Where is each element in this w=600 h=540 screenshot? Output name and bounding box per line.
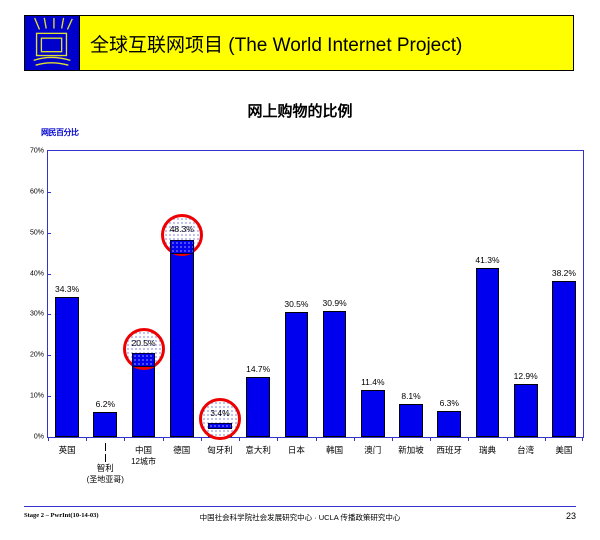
bar xyxy=(437,411,461,437)
x-tick-label: 韩国 xyxy=(326,445,343,456)
y-tick-mark xyxy=(47,314,51,315)
x-tick-label-main: 匈牙利 xyxy=(207,445,233,455)
x-tick-label-main: 德国 xyxy=(173,445,190,455)
x-tick-label: 瑞典 xyxy=(479,445,496,456)
bar-value-label: 6.2% xyxy=(96,399,115,409)
label-leader-line xyxy=(105,443,106,451)
bar-value-label: 48.3% xyxy=(170,224,194,234)
bar-value-label: 3.4% xyxy=(210,408,229,418)
x-tick-label-main: 意大利 xyxy=(245,445,271,455)
bar-value-label: 34.3% xyxy=(55,284,79,294)
x-tick-label: 意大利 xyxy=(245,445,271,456)
y-tick-mark xyxy=(47,274,51,275)
y-tick-mark xyxy=(47,396,51,397)
x-tick-label-main: 韩国 xyxy=(326,445,343,455)
x-tick-label: 台湾 xyxy=(517,445,534,456)
bar xyxy=(246,377,270,437)
x-tick-label-main: 美国 xyxy=(555,445,572,455)
x-tick-label-main: 西班牙 xyxy=(436,445,462,455)
x-tick-label: 美国 xyxy=(555,445,572,456)
page-title: 全球互联网项目 (The World Internet Project) xyxy=(90,30,462,57)
x-tick-label: 中国12城市 xyxy=(131,445,156,467)
bar-value-label: 38.2% xyxy=(552,268,576,278)
y-tick-label: 0% xyxy=(34,434,44,441)
bar-value-label: 8.1% xyxy=(401,391,420,401)
y-tick-label: 40% xyxy=(30,270,44,277)
x-tick-label-main: 台湾 xyxy=(517,445,534,455)
x-tick-label-main: 中国 xyxy=(135,445,152,455)
bar-highlight-top xyxy=(132,353,156,367)
y-tick-mark xyxy=(47,192,51,193)
highlight-circle xyxy=(199,398,241,440)
label-leader-line xyxy=(105,454,106,462)
y-tick-label: 50% xyxy=(30,229,44,236)
x-tick-label-sub: 12城市 xyxy=(131,456,156,467)
bar-value-label: 20.5% xyxy=(131,338,155,348)
y-tick-mark xyxy=(47,233,51,234)
x-axis-tick-labels: 英国智利(圣地亚哥)中国12城市德国匈牙利意大利日本韩国澳门新加坡西班牙瑞典台湾… xyxy=(48,441,583,501)
bar-value-label: 14.7% xyxy=(246,364,270,374)
x-tick-label-main: 智利 xyxy=(97,463,114,473)
x-tick-label: 日本 xyxy=(288,445,305,456)
bar-value-label: 41.3% xyxy=(475,255,499,265)
x-tick-label-main: 澳门 xyxy=(364,445,381,455)
x-tick-label: 匈牙利 xyxy=(207,445,233,456)
bar xyxy=(476,268,500,437)
y-tick-label: 20% xyxy=(30,352,44,359)
y-tick-label: 30% xyxy=(30,311,44,318)
x-tick-label-main: 英国 xyxy=(59,445,76,455)
monitor-logo-icon xyxy=(24,15,80,71)
x-tick-label: 西班牙 xyxy=(436,445,462,456)
bar xyxy=(361,390,385,437)
y-tick-label: 60% xyxy=(30,188,44,195)
bar xyxy=(552,281,576,437)
footer-center-text: 中国社会科学院社会发展研究中心 · UCLA 传播政策研究中心 xyxy=(0,512,600,523)
x-tick-label: 澳门 xyxy=(364,445,381,456)
bar xyxy=(55,297,79,437)
bar-highlight-top xyxy=(208,423,232,429)
bar-value-label: 30.5% xyxy=(284,299,308,309)
y-axis-label: 网民百分比 xyxy=(41,127,79,138)
y-axis-tick-labels: 0%10%20%30%40%50%60%70% xyxy=(18,150,44,438)
bar-value-label: 12.9% xyxy=(514,371,538,381)
bar-value-label: 30.9% xyxy=(323,298,347,308)
bar-value-label: 6.3% xyxy=(440,398,459,408)
x-tick-label: 智利(圣地亚哥) xyxy=(87,463,124,485)
x-tick-label-main: 瑞典 xyxy=(479,445,496,455)
bar xyxy=(93,412,117,437)
header-title-box: 全球互联网项目 (The World Internet Project) xyxy=(80,15,574,71)
bar xyxy=(170,240,194,437)
bar xyxy=(399,404,423,437)
chart-title: 网上购物的比例 xyxy=(0,100,600,121)
x-tick-label-sub: (圣地亚哥) xyxy=(87,474,124,485)
y-tick-label: 70% xyxy=(30,148,44,155)
bars-layer: 34.3%6.2%20.5%48.3%3.4%14.7%30.5%30.9%11… xyxy=(48,151,583,437)
x-tick-label-main: 新加坡 xyxy=(398,445,424,455)
footer-divider xyxy=(24,506,576,507)
bar xyxy=(285,312,309,437)
y-tick-label: 10% xyxy=(30,393,44,400)
x-tick-label: 英国 xyxy=(59,445,76,456)
x-tick-label: 德国 xyxy=(173,445,190,456)
y-tick-mark xyxy=(47,355,51,356)
bar-value-label: 11.4% xyxy=(361,377,384,387)
x-tick-label-main: 日本 xyxy=(288,445,305,455)
bar xyxy=(323,311,347,437)
footer-page-number: 23 xyxy=(566,511,576,521)
x-tick-label: 新加坡 xyxy=(398,445,424,456)
header-banner: 全球互联网项目 (The World Internet Project) xyxy=(24,15,574,71)
bar-highlight-top xyxy=(170,240,194,254)
bar xyxy=(514,384,538,437)
